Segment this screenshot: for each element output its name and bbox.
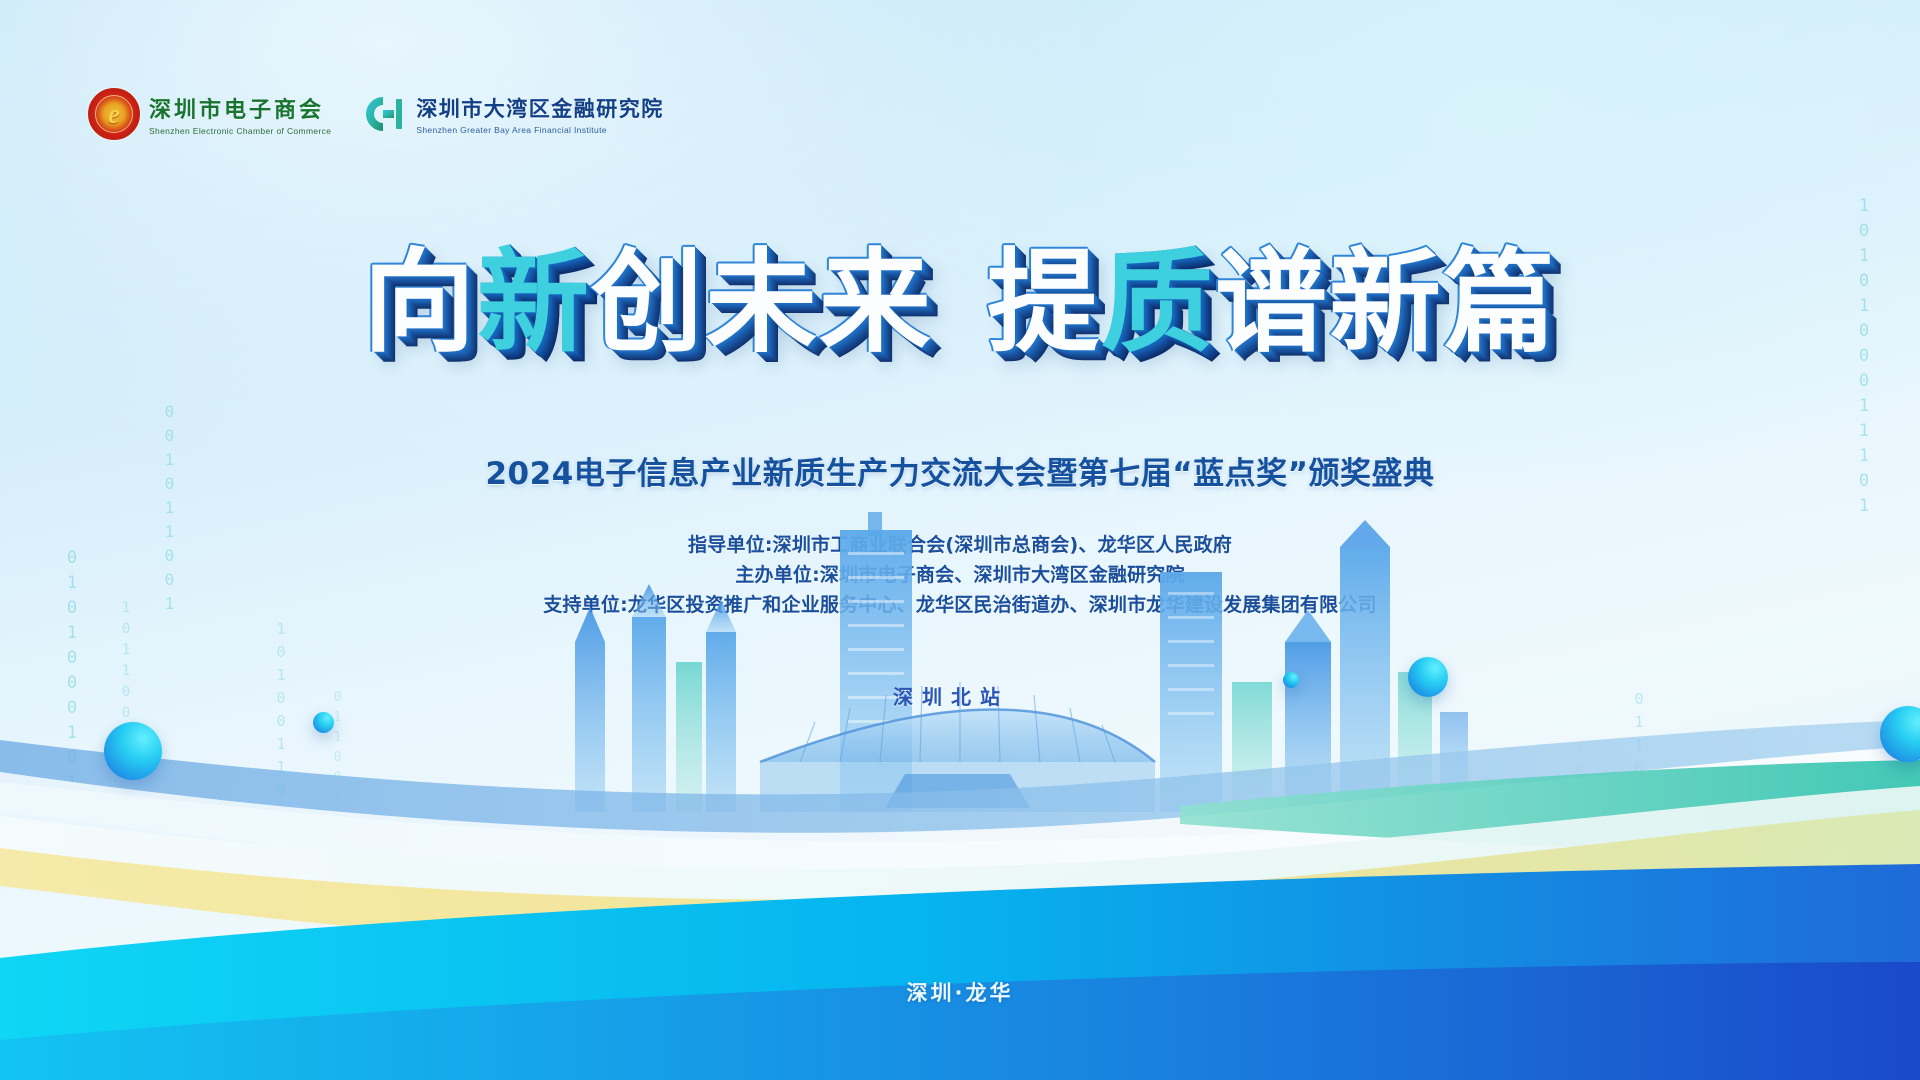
sphere-left-large [104, 722, 162, 780]
wave-decoration-layer [0, 720, 1920, 1080]
title-word-gap [933, 246, 987, 360]
logo-name-cn: 深圳市电子商会 [149, 92, 331, 124]
main-title: 向新创未来 提质谱新篇 [0, 246, 1920, 360]
sphere-right-small [1283, 672, 1299, 688]
logo-name-en: Shenzhen Electronic Chamber of Commerce [149, 126, 331, 136]
seal-letter-e-icon: e [90, 90, 138, 138]
title-segment-4: 质 [1101, 246, 1215, 360]
logo-name-en: Shenzhen Greater Bay Area Financial Inst… [416, 125, 664, 135]
title-segment-5: 谱新篇 [1215, 246, 1557, 360]
title-segment-3: 提 [987, 246, 1101, 360]
title-segment-2: 创未来 [591, 246, 933, 360]
event-subtitle: 2024电子信息产业新质生产力交流大会暨第七届“蓝点奖”颁奖盛典 [0, 448, 1920, 493]
sphere-right-large [1408, 657, 1448, 697]
sphere-left-small [313, 712, 334, 733]
logo-name-cn: 深圳市大湾区金融研究院 [416, 93, 664, 123]
logo-bar: e 深圳市电子商会 Shenzhen Electronic Chamber of… [88, 88, 664, 140]
title-segment-1: 新 [477, 246, 591, 360]
red-seal-emblem-icon: e [88, 88, 140, 140]
logo-shenzhen-electronic-chamber-of-commerce: e 深圳市电子商会 Shenzhen Electronic Chamber of… [88, 88, 331, 140]
main-title-text: 向新创未来 提质谱新篇 [363, 246, 1557, 360]
station-label: 深圳北站 [893, 681, 1009, 710]
conference-banner: 0101000101101100101000101100110100110011… [0, 0, 1920, 1080]
gbi-monogram-icon [361, 92, 407, 136]
title-segment-0: 向 [363, 246, 477, 360]
logo-shenzhen-greater-bay-area-financial-institute: 深圳市大湾区金融研究院 Shenzhen Greater Bay Area Fi… [361, 92, 664, 136]
location-label: 深圳·龙华 [0, 977, 1920, 1007]
